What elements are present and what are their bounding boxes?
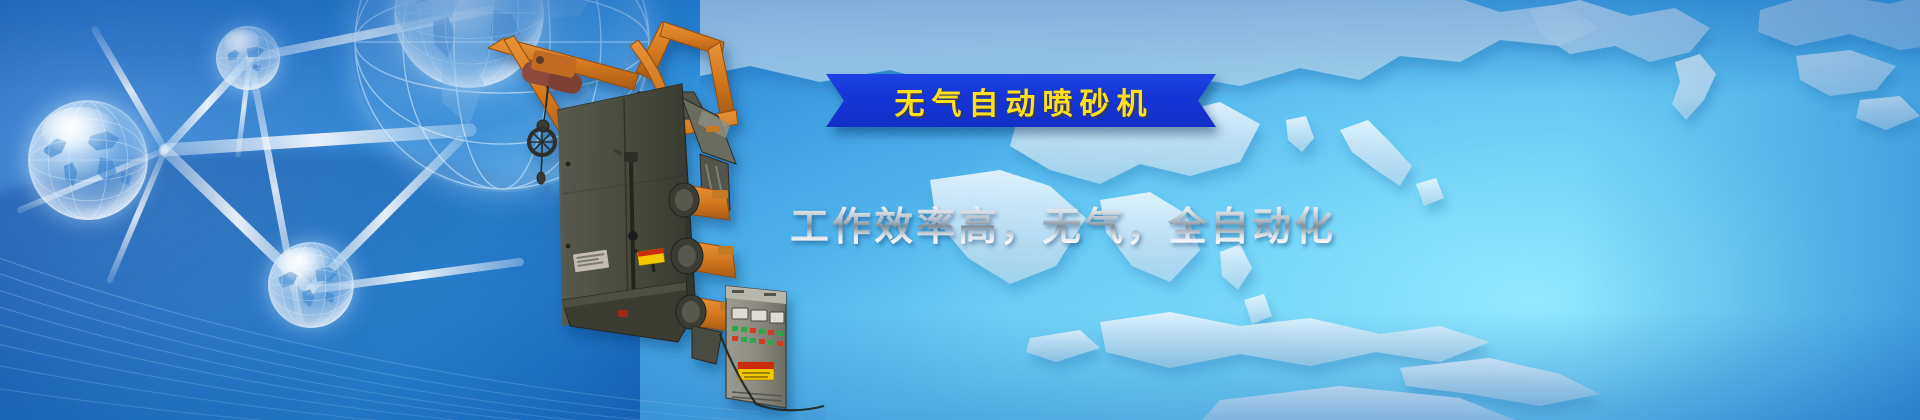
globe-highlight <box>42 107 116 155</box>
globe-highlight <box>278 247 331 281</box>
globe-node-top <box>216 26 280 90</box>
title-ribbon: 无气自动喷砂机 <box>826 74 1216 127</box>
ribbon-title-text: 无气自动喷砂机 <box>826 74 1216 127</box>
sandblasting-machine-photo <box>486 14 826 420</box>
blast-turbine-unit-2 <box>671 238 736 278</box>
globe-node-bottom <box>268 242 354 328</box>
product-banner: 无气自动喷砂机 工作效率高，无气，全自动化 工作效率高，无气，全自动化 <box>0 0 1920 420</box>
globe-node-left <box>28 100 148 220</box>
subtitle-text: 工作效率高，无气，全自动化 <box>790 196 1470 252</box>
control-panel <box>726 286 786 408</box>
machine-assembly <box>488 22 824 410</box>
